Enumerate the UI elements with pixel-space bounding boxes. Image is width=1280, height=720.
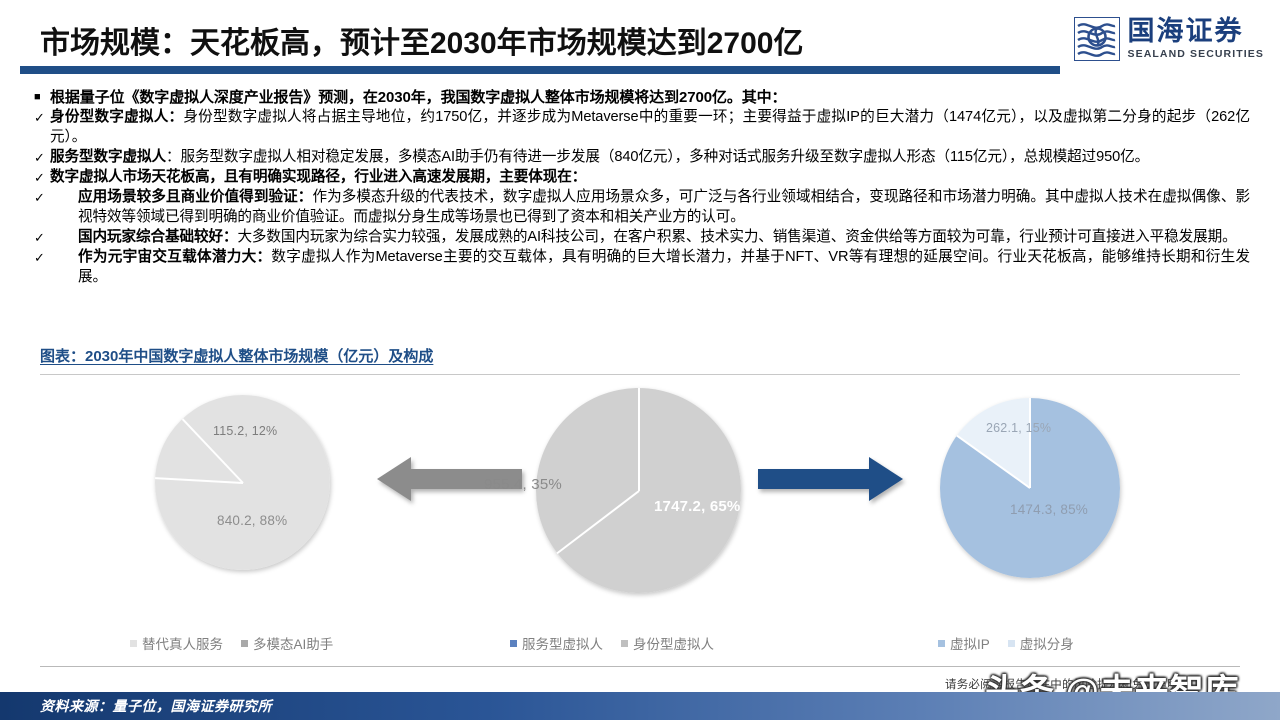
logo-wordmark: 国海证券 SEALAND SECURITIES bbox=[1128, 18, 1264, 60]
pie-slice-separator bbox=[638, 388, 640, 491]
legend-item-replace-human[interactable]: 替代真人服务 bbox=[130, 633, 223, 653]
bullet-service-type: ✓ 服务型数字虚拟人：服务型数字虚拟人相对稳定发展，多模态AI助手仍有待进一步发… bbox=[34, 148, 1252, 167]
title-divider bbox=[20, 66, 1060, 74]
company-logo: 国海证券 SEALAND SECURITIES bbox=[1074, 14, 1264, 64]
logo-name-en: SEALAND SECURITIES bbox=[1128, 49, 1264, 60]
bullet-metaverse-carrier: ✓ 作为元宇宙交互载体潜力大：数字虚拟人作为Metaverse主要的交互载体，具… bbox=[34, 248, 1252, 287]
bullet-identity-type-label: 身份型数字虚拟人： bbox=[50, 109, 183, 125]
legend-label: 身份型虚拟人 bbox=[633, 633, 714, 653]
pie-left: 115.2, 12% 840.2, 88% bbox=[155, 395, 330, 570]
arrow-right bbox=[758, 455, 903, 508]
square-bullet-icon: ■ bbox=[34, 88, 50, 107]
charts-area: 115.2, 12% 840.2, 88% 替代真人服务 多模态AI助手 955… bbox=[40, 380, 1240, 660]
legend-item-virtual-ip[interactable]: 虚拟IP bbox=[938, 633, 990, 653]
legend-swatch-icon bbox=[510, 640, 517, 647]
pie-center: 955.4, 35% 1747.2, 65% bbox=[536, 388, 741, 593]
pie-center-legend: 服务型虚拟人 身份型虚拟人 bbox=[510, 633, 714, 653]
pie-right: 262.1, 15% 1474.3, 85% bbox=[940, 398, 1120, 578]
pie-center-graphic bbox=[536, 388, 741, 593]
pie-slice-separator bbox=[155, 477, 242, 484]
bullet-market-ceiling-label: 数字虚拟人市场天花板高，且有明确实现路径，行业进入高速发展期，主要体现在： bbox=[50, 169, 586, 185]
legend-swatch-icon bbox=[241, 640, 248, 647]
logo-name-cn: 国海证券 bbox=[1128, 18, 1264, 45]
slide: 市场规模：天花板高，预计至2030年市场规模达到2700亿 国海证券 SEALA… bbox=[0, 0, 1280, 720]
bullet-domestic-players-text: 大多数国内玩家为综合实力较强，发展成熟的AI科技公司，在客户积累、技术实力、销售… bbox=[237, 229, 1236, 245]
bullet-main: ■ 根据量子位《数字虚拟人深度产业报告》预测，在2030年，我国数字虚拟人整体市… bbox=[34, 88, 1252, 107]
pie-left-slice-label-1: 115.2, 12% bbox=[213, 423, 277, 439]
pie-slice-separator bbox=[1029, 398, 1031, 488]
legend-label: 服务型虚拟人 bbox=[522, 633, 603, 653]
bullet-service-type-label: 服务型数字虚拟人 bbox=[50, 149, 166, 165]
bullet-identity-type-text: 身份型数字虚拟人将占据主导地位，约1750亿，并逐步成为Metaverse中的重… bbox=[50, 109, 1250, 144]
pie-left-legend: 替代真人服务 多模态AI助手 bbox=[130, 633, 333, 653]
exhibit-divider bbox=[40, 374, 1240, 375]
legend-label: 多模态AI助手 bbox=[253, 633, 333, 653]
bullet-main-text: 根据量子位《数字虚拟人深度产业报告》预测，在2030年，我国数字虚拟人整体市场规… bbox=[50, 88, 786, 107]
legend-label: 替代真人服务 bbox=[142, 633, 223, 653]
exhibit-title: 图表：2030年中国数字虚拟人整体市场规模（亿元）及构成 bbox=[40, 345, 433, 366]
bullet-domestic-players-label: 国内玩家综合基础较好： bbox=[78, 229, 237, 245]
bullet-market-ceiling: ✓ 数字虚拟人市场天花板高，且有明确实现路径，行业进入高速发展期，主要体现在： bbox=[34, 168, 1252, 187]
bullet-use-cases: ✓ 应用场景较多且商业价值得到验证：作为多模态升级的代表技术，数字虚拟人应用场景… bbox=[34, 188, 1252, 227]
pie-right-legend: 虚拟IP 虚拟分身 bbox=[938, 633, 1074, 653]
body-content: ■ 根据量子位《数字虚拟人深度产业报告》预测，在2030年，我国数字虚拟人整体市… bbox=[34, 88, 1252, 287]
check-bullet-icon: ✓ bbox=[34, 188, 64, 207]
legend-item-identity-type[interactable]: 身份型虚拟人 bbox=[621, 633, 714, 653]
legend-item-virtual-avatar[interactable]: 虚拟分身 bbox=[1008, 633, 1074, 653]
check-bullet-icon: ✓ bbox=[34, 148, 50, 167]
pie-center-slice-label-1: 1747.2, 65% bbox=[654, 498, 740, 515]
bullet-service-type-text: ：服务型数字虚拟人相对稳定发展，多模态AI助手仍有待进一步发展（840亿元），多… bbox=[166, 149, 1149, 165]
legend-item-service-type[interactable]: 服务型虚拟人 bbox=[510, 633, 603, 653]
pie-right-slice-label-1: 262.1, 15% bbox=[986, 420, 1051, 436]
sealand-emblem-icon bbox=[1074, 17, 1120, 61]
pie-right-slice-label-0: 1474.3, 85% bbox=[1010, 502, 1088, 517]
check-bullet-icon: ✓ bbox=[34, 108, 50, 127]
legend-item-multimodal-ai[interactable]: 多模态AI助手 bbox=[241, 633, 333, 653]
check-bullet-icon: ✓ bbox=[34, 168, 50, 187]
bullet-identity-type: ✓ 身份型数字虚拟人：身份型数字虚拟人将占据主导地位，约1750亿，并逐步成为M… bbox=[34, 108, 1252, 147]
pie-center-slice-label-0: 955.4, 35% bbox=[484, 476, 562, 493]
source-text: 资料来源：量子位，国海证券研究所 bbox=[40, 696, 272, 716]
check-bullet-icon: ✓ bbox=[34, 228, 64, 247]
legend-swatch-icon bbox=[1008, 640, 1015, 647]
check-bullet-icon: ✓ bbox=[34, 248, 64, 267]
legend-swatch-icon bbox=[621, 640, 628, 647]
footer-bar: 资料来源：量子位，国海证券研究所 bbox=[0, 692, 1280, 720]
pie-left-graphic bbox=[155, 395, 330, 570]
legend-swatch-icon bbox=[130, 640, 137, 647]
pie-slice-separator bbox=[956, 435, 1030, 489]
bullet-use-cases-label: 应用场景较多且商业价值得到验证： bbox=[78, 189, 312, 205]
slide-header: 市场规模：天花板高，预计至2030年市场规模达到2700亿 国海证券 SEALA… bbox=[0, 0, 1280, 78]
legend-label: 虚拟分身 bbox=[1020, 633, 1074, 653]
page-title: 市场规模：天花板高，预计至2030年市场规模达到2700亿 bbox=[40, 18, 803, 62]
bullet-metaverse-carrier-label: 作为元宇宙交互载体潜力大： bbox=[78, 249, 271, 265]
pie-left-slice-label-0: 840.2, 88% bbox=[217, 513, 287, 528]
pie-slice-separator bbox=[556, 490, 639, 554]
legend-swatch-icon bbox=[938, 640, 945, 647]
legend-label: 虚拟IP bbox=[950, 633, 990, 653]
bullet-domestic-players: ✓ 国内玩家综合基础较好：大多数国内玩家为综合实力较强，发展成熟的AI科技公司，… bbox=[34, 228, 1252, 247]
